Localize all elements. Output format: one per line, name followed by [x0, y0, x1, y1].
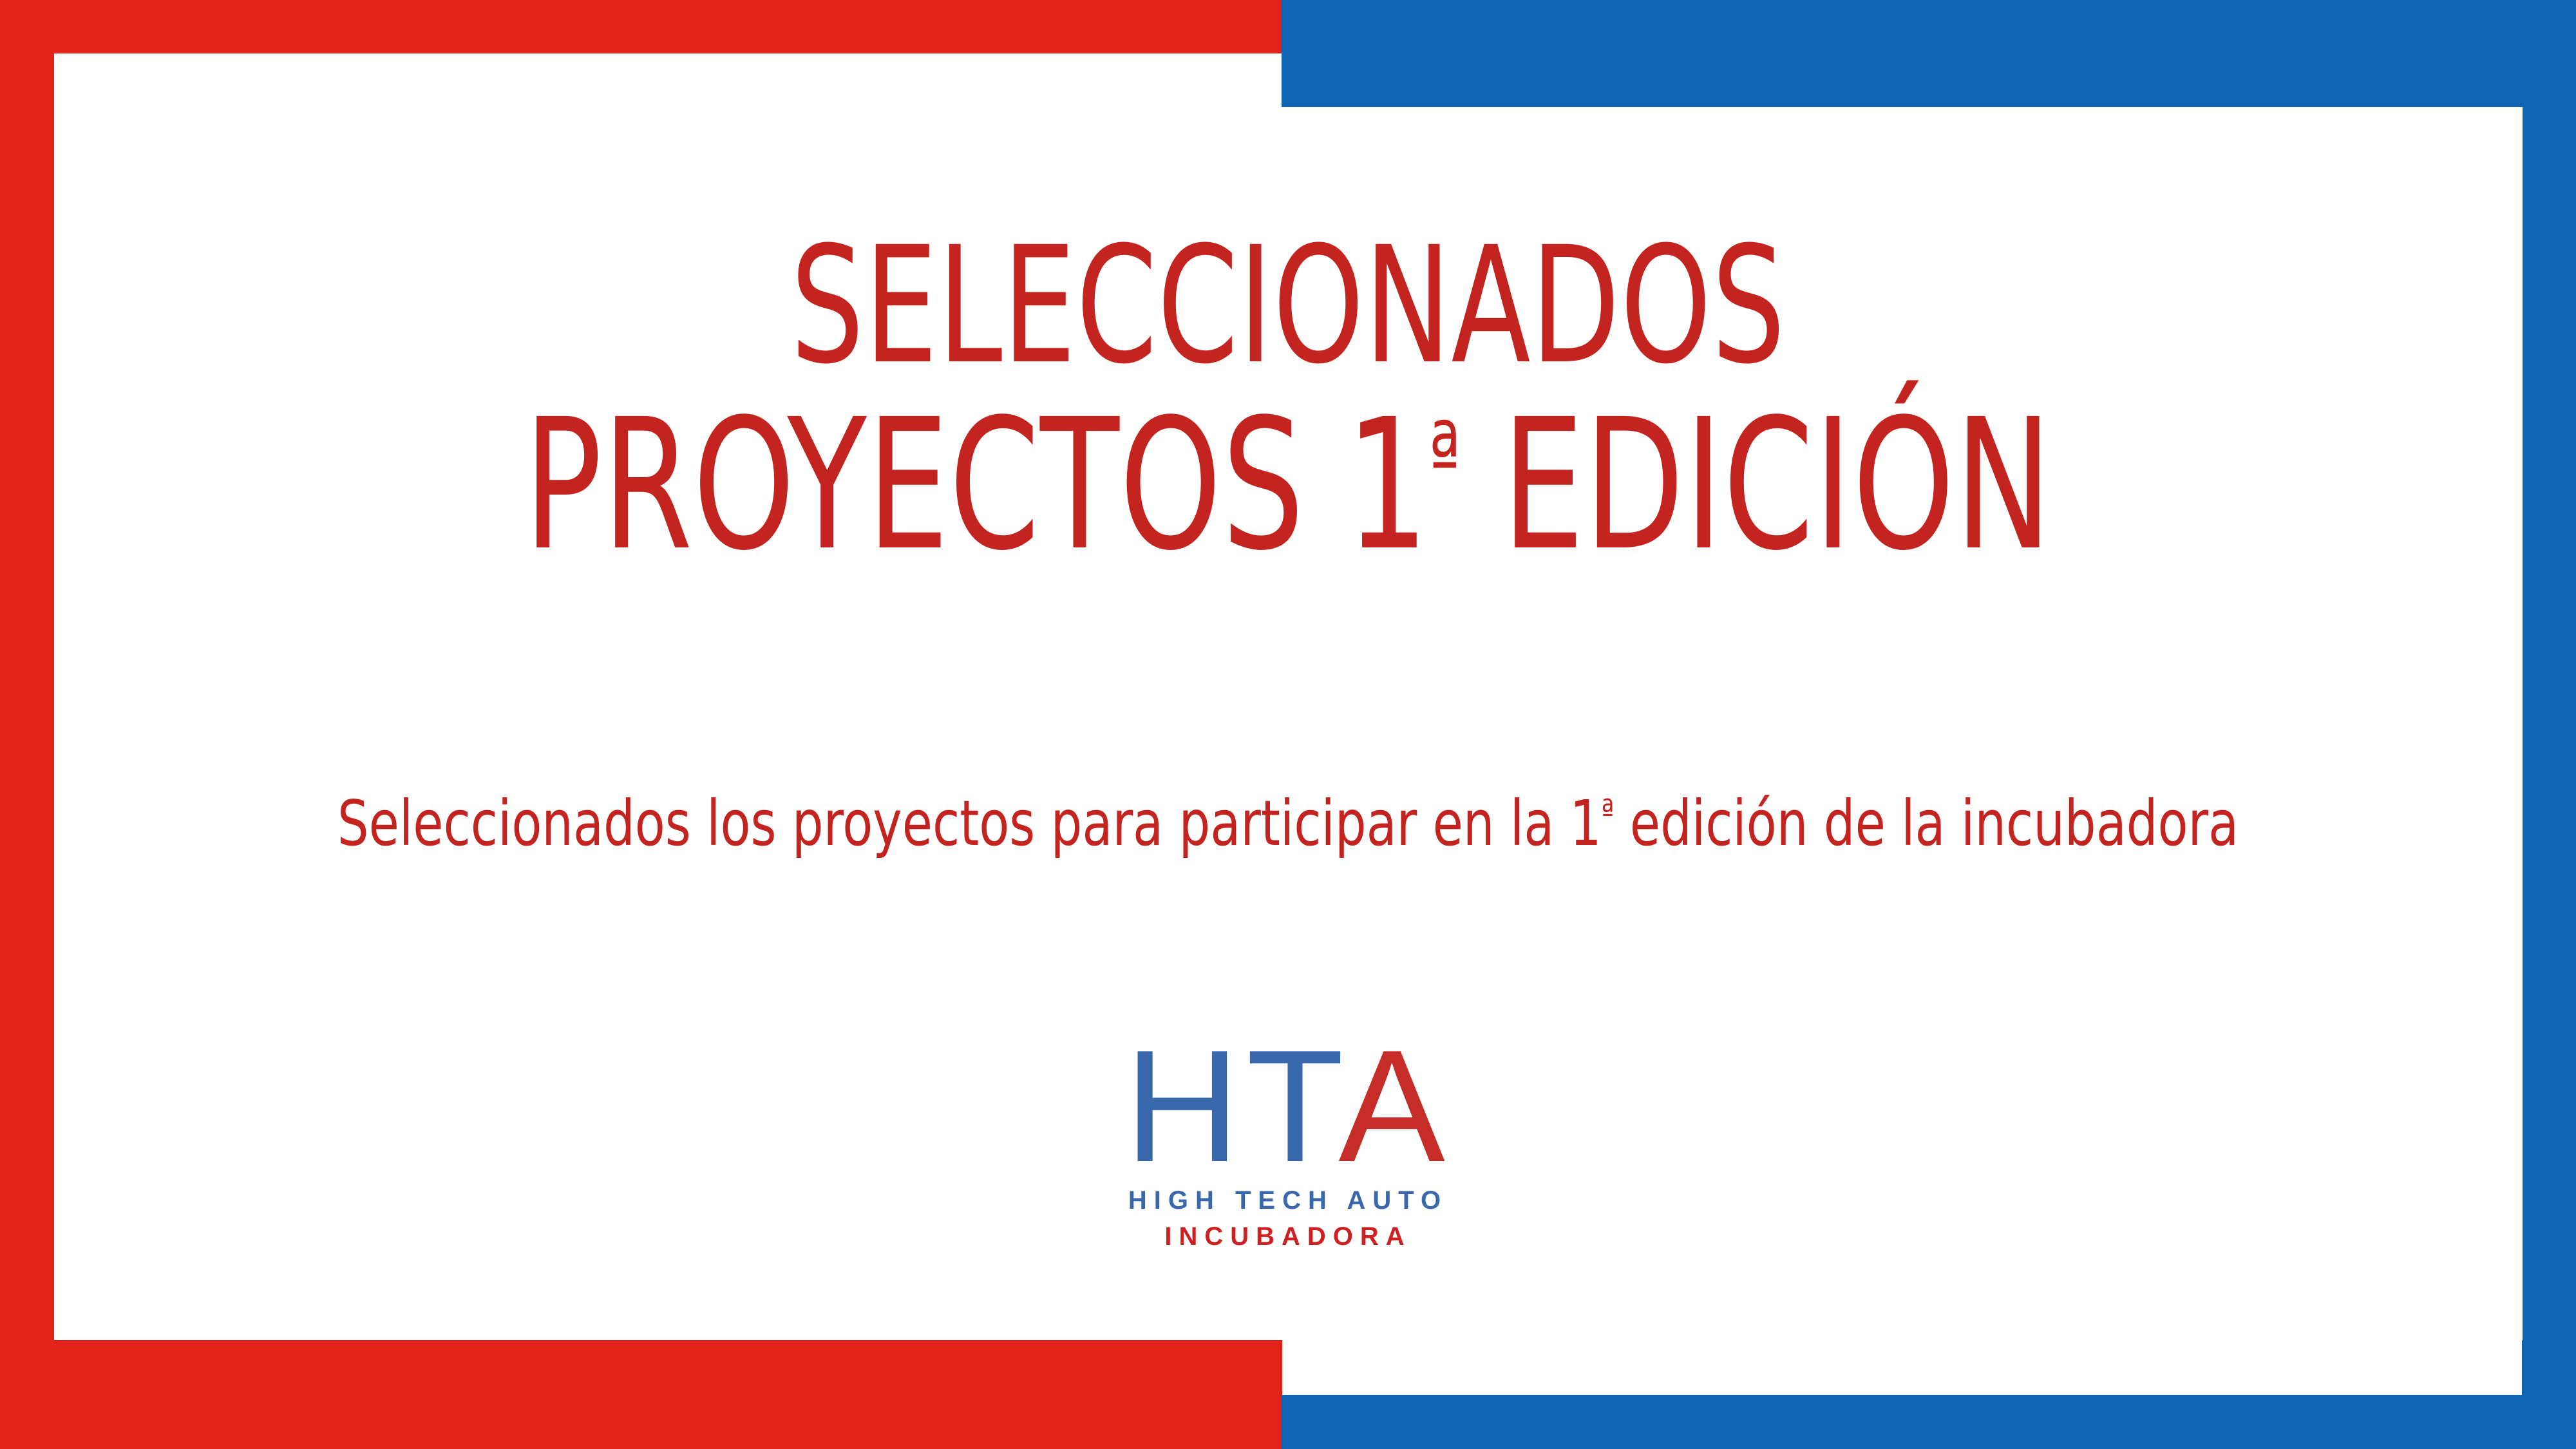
frame-bar-red-bottom — [0, 1340, 1282, 1449]
logo-tagline: HIGH TECH AUTO — [0, 1188, 2576, 1213]
headline-line-2: PROYECTOS 1ª EDICIÓN — [258, 395, 2318, 576]
headline-line-1: SELECCIONADOS — [258, 225, 2318, 386]
headline-line-2-suffix: EDICIÓN — [1461, 381, 2052, 591]
frame-bar-blue-top — [1282, 0, 2576, 107]
headline-line-2-text: PROYECTOS 1 — [524, 381, 1428, 591]
logo-wordmark: HTA — [0, 1042, 2576, 1170]
logo-wordmark-ht: HT — [1124, 1016, 1338, 1195]
hta-logo: HTA HIGH TECH AUTO INCUBADORA — [0, 1042, 2576, 1249]
subtitle-text: Seleccionados los proyectos para partici… — [337, 787, 1602, 860]
subtitle-ordinal-indicator: ª — [1602, 791, 1615, 832]
slide-subtitle: Seleccionados los proyectos para partici… — [155, 791, 2421, 857]
logo-subtagline: INCUBADORA — [0, 1224, 2576, 1249]
logo-wordmark-a: A — [1338, 1016, 1451, 1195]
subtitle-suffix: edición de la incubadora — [1614, 787, 2239, 860]
headline-ordinal-indicator: ª — [1429, 403, 1461, 512]
frame-bar-blue-bottom — [1282, 1395, 2576, 1449]
frame-bar-red-top — [0, 0, 1282, 53]
presentation-slide: SELECCIONADOS PROYECTOS 1ª EDICIÓN Selec… — [0, 0, 2576, 1449]
slide-headline: SELECCIONADOS PROYECTOS 1ª EDICIÓN — [0, 225, 2576, 576]
